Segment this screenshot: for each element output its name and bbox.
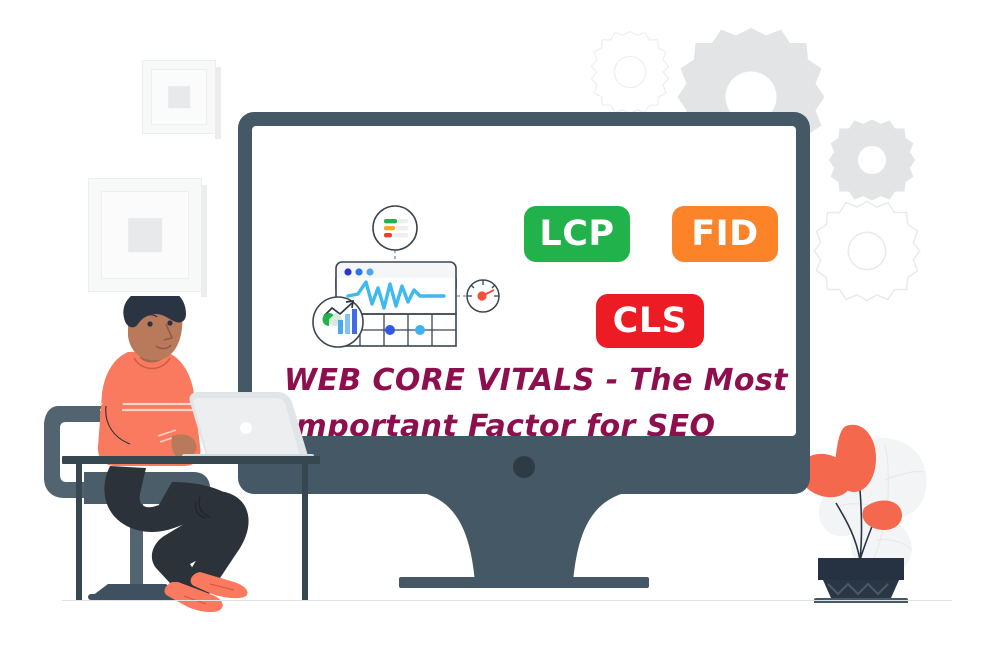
badge-lcp[interactable]: LCP: [524, 206, 630, 262]
badge-cls[interactable]: CLS: [596, 294, 704, 348]
desk-surface: [62, 456, 320, 464]
page-title: WEB CORE VITALS - The Most Important Fac…: [284, 358, 796, 436]
monitor-stand-foot: [399, 577, 649, 588]
laptop: [182, 390, 314, 460]
frame-shadow-edge: [215, 67, 221, 139]
wall-frame-small: [142, 60, 216, 134]
poster-canvas: LCP FID CLS WEB CORE VITALS - The Most I…: [0, 0, 1000, 652]
power-indicator-icon[interactable]: [513, 456, 535, 478]
wall-frame-large: [88, 178, 202, 292]
monitor-stand-neck: [427, 490, 621, 582]
gear-filled-medium-icon: [828, 116, 916, 204]
frame-center-square: [128, 218, 162, 252]
frame-shadow-edge: [201, 185, 207, 297]
gear-outline-small-icon: [584, 26, 676, 118]
badge-fid[interactable]: FID: [672, 206, 778, 262]
frame-center-square: [168, 86, 190, 108]
floor-line: [62, 600, 952, 601]
desk-leg-left: [76, 463, 82, 600]
title-line-2: Important Factor for SEO: [284, 404, 796, 436]
potted-plant: [790, 398, 940, 603]
title-line-1: WEB CORE VITALS - The Most: [284, 358, 796, 404]
desk-leg-right: [302, 463, 308, 600]
gear-outline-large-icon: [812, 196, 922, 306]
